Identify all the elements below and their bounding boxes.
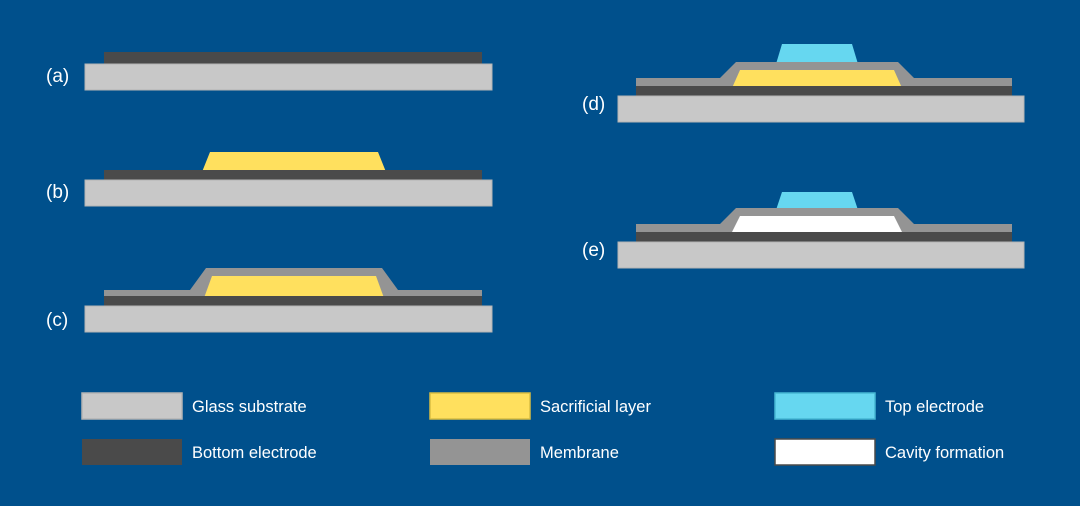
panel-c: (c) (46, 268, 492, 332)
panel-c-label: (c) (46, 310, 68, 331)
panel-c-glass-substrate (85, 306, 492, 332)
legend-swatch-top-electrode (775, 393, 875, 419)
legend-label-sacrificial-layer: Sacrificial layer (540, 398, 651, 416)
legend-swatch-glass-substrate (82, 393, 182, 419)
legend-label-bottom-electrode: Bottom electrode (192, 444, 317, 462)
panel-e: (e) (582, 192, 1024, 268)
legend-swatch-bottom-electrode (82, 439, 182, 465)
legend: Glass substrate Sacrificial layer Top el… (82, 393, 1004, 465)
panel-a-glass-substrate (85, 64, 492, 90)
figure-root: (a) (b) (c) (0, 0, 1080, 506)
legend-label-membrane: Membrane (540, 444, 619, 462)
legend-label-top-electrode: Top electrode (885, 398, 984, 416)
panel-a-bottom-electrode (104, 52, 482, 64)
panel-e-label: (e) (582, 240, 605, 261)
panel-e-cavity-formation (732, 216, 902, 232)
legend-swatch-membrane (430, 439, 530, 465)
legend-item-sacrificial-layer: Sacrificial layer (430, 393, 651, 419)
legend-item-top-electrode: Top electrode (775, 393, 984, 419)
panel-d: (d) (582, 44, 1024, 122)
panel-b-sacrificial-layer (202, 152, 386, 172)
panel-d-top-electrode (776, 44, 858, 64)
legend-label-cavity-formation: Cavity formation (885, 444, 1004, 462)
panel-b-label: (b) (46, 182, 69, 203)
legend-swatch-cavity-formation (775, 439, 875, 465)
panel-a-label: (a) (46, 66, 69, 87)
panel-b: (b) (46, 152, 492, 206)
legend-label-glass-substrate: Glass substrate (192, 398, 307, 416)
legend-item-cavity-formation: Cavity formation (775, 439, 1004, 465)
panel-b-glass-substrate (85, 180, 492, 206)
panel-a: (a) (46, 52, 492, 90)
legend-swatch-sacrificial-layer (430, 393, 530, 419)
process-flow-diagram: (a) (b) (c) (0, 0, 1080, 506)
panel-d-sacrificial-layer (732, 70, 902, 88)
legend-item-glass-substrate: Glass substrate (82, 393, 307, 419)
panel-d-label: (d) (582, 94, 605, 115)
panel-e-glass-substrate (618, 242, 1024, 268)
panel-e-top-electrode (776, 192, 858, 210)
legend-item-bottom-electrode: Bottom electrode (82, 439, 317, 465)
panel-d-glass-substrate (618, 96, 1024, 122)
legend-item-membrane: Membrane (430, 439, 619, 465)
panel-c-sacrificial-layer (204, 276, 384, 298)
